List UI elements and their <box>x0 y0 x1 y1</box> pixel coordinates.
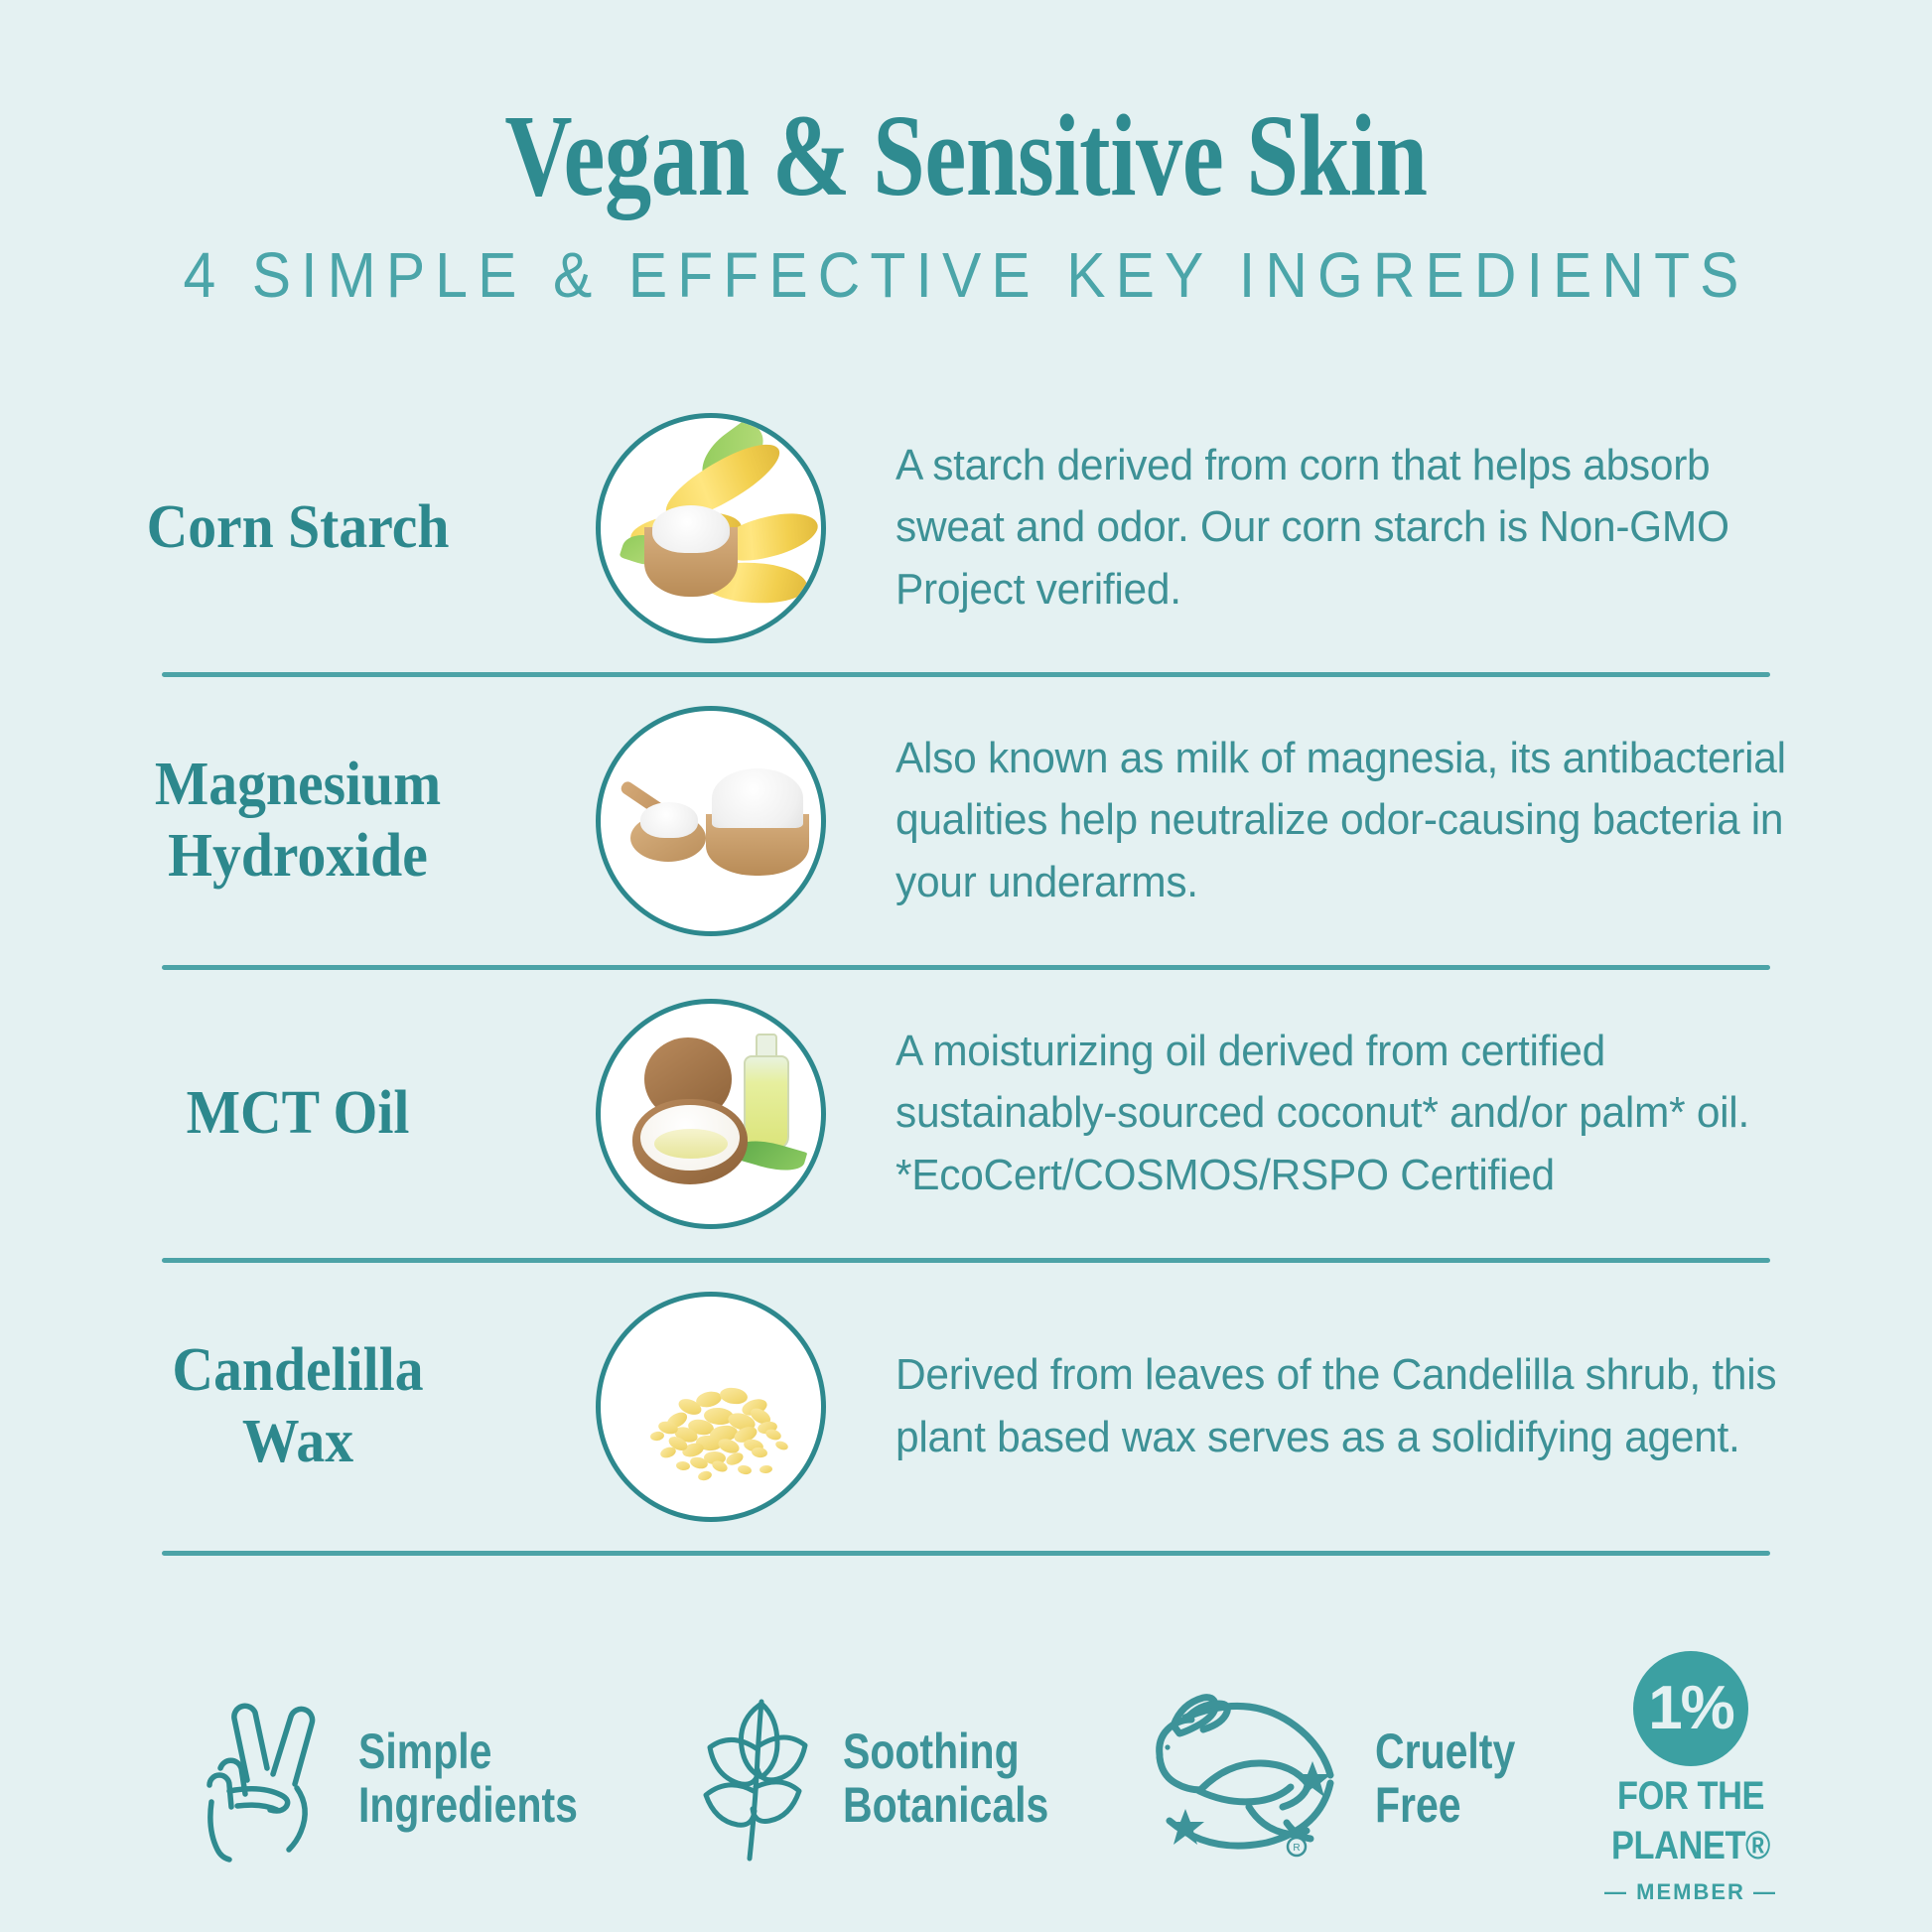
planet-member-label: — MEMBER — <box>1604 1879 1777 1905</box>
badge-one-percent-for-the-planet: 1% FOR THE PLANET® — MEMBER — <box>1598 1651 1783 1905</box>
corn-cobs-and-starch-bowl-photo <box>596 413 826 643</box>
badge-cruelty-free: R CrueltyFree <box>1146 1684 1546 1872</box>
ingredient-row-mct-oil: MCT Oil A moisturizing oil derived from … <box>0 970 1932 1258</box>
ingredient-name: MagnesiumHydroxide <box>21 750 575 893</box>
ingredient-description: A starch derived from corn that helps ab… <box>896 435 1829 621</box>
badge-label: SoothingBotanicals <box>843 1725 1048 1832</box>
infographic-page: Vegan & Sensitive Skin 4 SIMPLE & EFFECT… <box>0 0 1932 1932</box>
ingredient-row-corn-starch: Corn Starch A starch derived from corn t… <box>0 384 1932 672</box>
candelilla-wax-pastilles-photo <box>596 1292 826 1522</box>
coconut-and-oil-bottle-photo <box>596 999 826 1229</box>
header: Vegan & Sensitive Skin 4 SIMPLE & EFFECT… <box>0 0 1932 307</box>
badge-simple-ingredients: SimpleIngredients <box>194 1689 625 1867</box>
ingredient-description: Derived from leaves of the Candelilla sh… <box>896 1344 1829 1468</box>
planet-line-2: PLANET® <box>1611 1826 1770 1865</box>
page-title: Vegan & Sensitive Skin <box>194 95 1739 217</box>
svg-text:R: R <box>1294 1843 1301 1854</box>
page-subtitle: 4 SIMPLE & EFFECTIVE KEY INGREDIENTS <box>77 243 1855 307</box>
leaping-bunny-icon: R <box>1146 1684 1359 1872</box>
magnesium-hydroxide-powder-bowl-photo <box>596 706 826 936</box>
badge-soothing-botanicals: SoothingBotanicals <box>678 1684 1094 1872</box>
badge-label: SimpleIngredients <box>358 1725 578 1832</box>
ingredient-name: CandelillaWax <box>21 1335 575 1478</box>
certification-badges: SimpleIngredients SoothingBotanicals <box>0 1556 1932 1905</box>
leaf-sprig-icon <box>678 1684 827 1872</box>
ingredient-row-candelilla-wax: CandelillaWax Derived from leaves of the… <box>0 1263 1932 1551</box>
planet-line-1: FOR THE <box>1617 1776 1764 1816</box>
ingredient-description: Also known as milk of magnesia, its anti… <box>896 728 1829 913</box>
ingredient-list: Corn Starch A starch derived from corn t… <box>0 384 1932 1556</box>
ingredient-name: MCT Oil <box>21 1078 575 1150</box>
ingredient-row-magnesium-hydroxide: MagnesiumHydroxide Also known as milk of… <box>0 677 1932 965</box>
badge-label: CrueltyFree <box>1375 1725 1515 1832</box>
ingredient-name: Corn Starch <box>21 492 575 564</box>
one-percent-circle-icon: 1% <box>1633 1651 1748 1766</box>
peace-hand-icon <box>194 1689 343 1867</box>
ingredient-description: A moisturizing oil derived from certifie… <box>896 1021 1829 1206</box>
